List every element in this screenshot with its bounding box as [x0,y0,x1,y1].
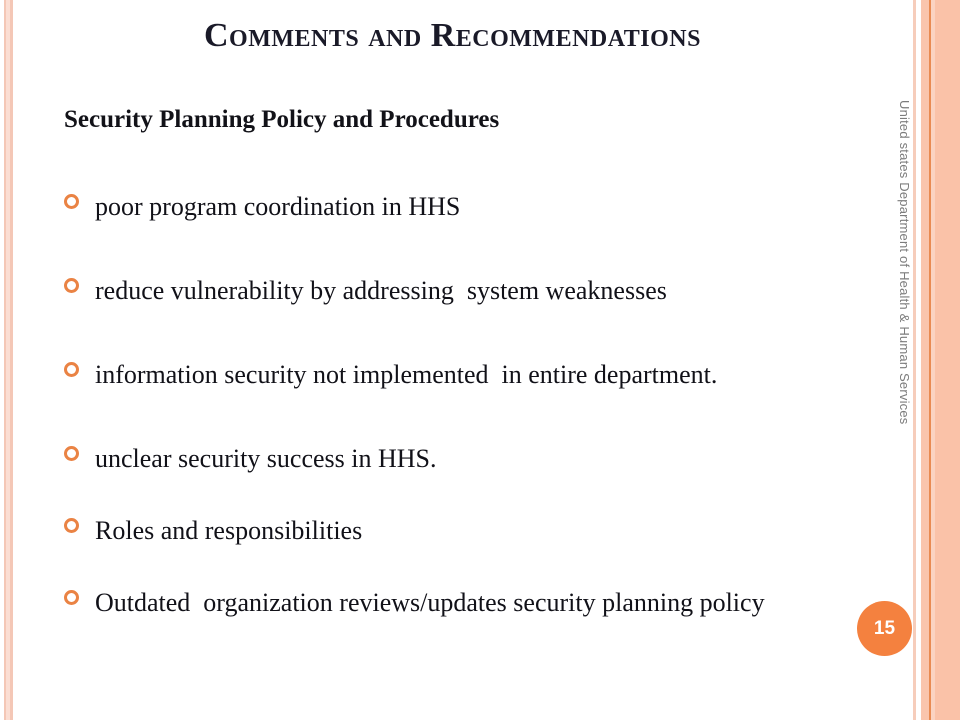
sidebar-vertical-caption: United states Department of Health & Hum… [896,100,912,500]
list-item: poor program coordination in HHS [64,185,864,229]
list-item-label: reduce vulnerability by addressing syste… [95,269,864,313]
right-decorative-band [921,0,960,720]
page-title: Comments and Recommendations [0,17,905,55]
circle-bullet-icon [64,362,79,377]
list-item-label: unclear security success in HHS. [95,437,864,481]
slide-canvas: United states Department of Health & Hum… [0,0,960,720]
circle-bullet-icon [64,446,79,461]
section-subheading: Security Planning Policy and Procedures [64,106,499,134]
list-item-label: information security not implemented in … [95,353,864,397]
list-item: reduce vulnerability by addressing syste… [64,269,864,313]
circle-bullet-icon [64,590,79,605]
list-item: Outdated organization reviews/updates se… [64,581,864,625]
list-item: information security not implemented in … [64,353,864,397]
list-item: unclear security success in HHS. [64,437,864,481]
list-item: Roles and responsibilities [64,509,864,553]
left-decorative-band [4,0,13,720]
list-item-label: poor program coordination in HHS [95,185,864,229]
list-item-label: Roles and responsibilities [95,509,864,553]
page-number-badge: 15 [857,601,912,656]
circle-bullet-icon [64,194,79,209]
list-item-label: Outdated organization reviews/updates se… [95,581,864,625]
circle-bullet-icon [64,278,79,293]
bullet-list: poor program coordination in HHS reduce … [64,185,864,653]
right-thin-divider-line [913,0,916,720]
circle-bullet-icon [64,518,79,533]
